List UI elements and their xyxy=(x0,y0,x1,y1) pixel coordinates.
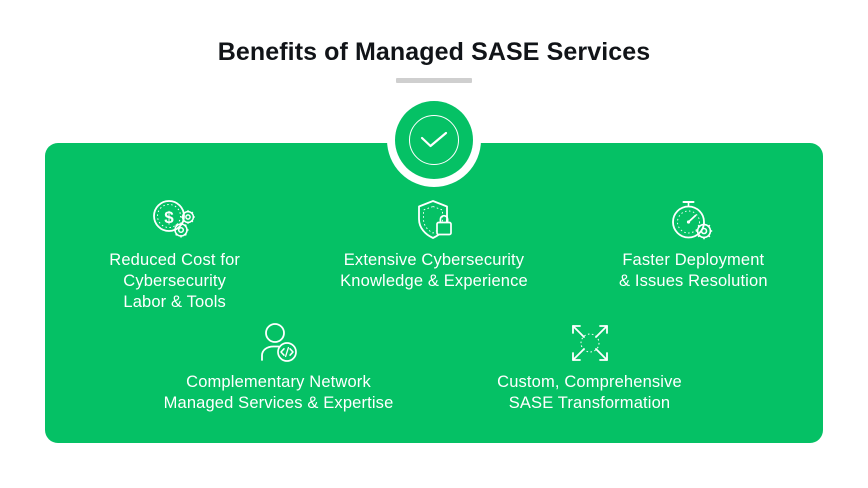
svg-text:$: $ xyxy=(164,208,174,227)
check-badge xyxy=(395,101,473,179)
benefit-label: Custom, Comprehensive SASE Transformatio… xyxy=(497,372,682,414)
checkmark-icon xyxy=(419,130,449,150)
benefit-item-complementary-network: Complementary Network Managed Services &… xyxy=(123,318,434,414)
dollar-coin-gears-icon: $ xyxy=(149,196,201,242)
page-title: Benefits of Managed SASE Services xyxy=(0,38,868,67)
infographic-root: Benefits of Managed SASE Services $ xyxy=(0,0,868,488)
benefit-label: Extensive Cybersecurity Knowledge & Expe… xyxy=(340,250,528,292)
benefit-item-faster-deployment: Faster Deployment & Issues Resolution xyxy=(564,196,823,313)
benefits-row-bottom: Complementary Network Managed Services &… xyxy=(45,318,823,414)
benefit-item-extensive-cybersecurity: Extensive Cybersecurity Knowledge & Expe… xyxy=(304,196,563,313)
stopwatch-gear-icon xyxy=(669,196,717,242)
check-badge-ring xyxy=(409,115,459,165)
title-divider xyxy=(396,78,472,83)
row-spacer-right xyxy=(745,318,823,414)
benefit-label: Complementary Network Managed Services &… xyxy=(164,372,394,414)
expand-arrows-icon xyxy=(568,318,612,364)
benefit-item-sase-transformation: Custom, Comprehensive SASE Transformatio… xyxy=(434,318,745,414)
benefit-label: Faster Deployment & Issues Resolution xyxy=(619,250,768,292)
badge-halo xyxy=(387,93,481,187)
shield-lock-icon xyxy=(411,196,457,242)
benefits-row-top: $ Reduced Cost for Cybersecurity Labor &… xyxy=(45,196,823,313)
row-spacer-left xyxy=(45,318,123,414)
benefit-item-reduced-cost: $ Reduced Cost for Cybersecurity Labor &… xyxy=(45,196,304,313)
user-code-badge-icon xyxy=(257,318,301,364)
benefit-label: Reduced Cost for Cybersecurity Labor & T… xyxy=(109,250,240,313)
